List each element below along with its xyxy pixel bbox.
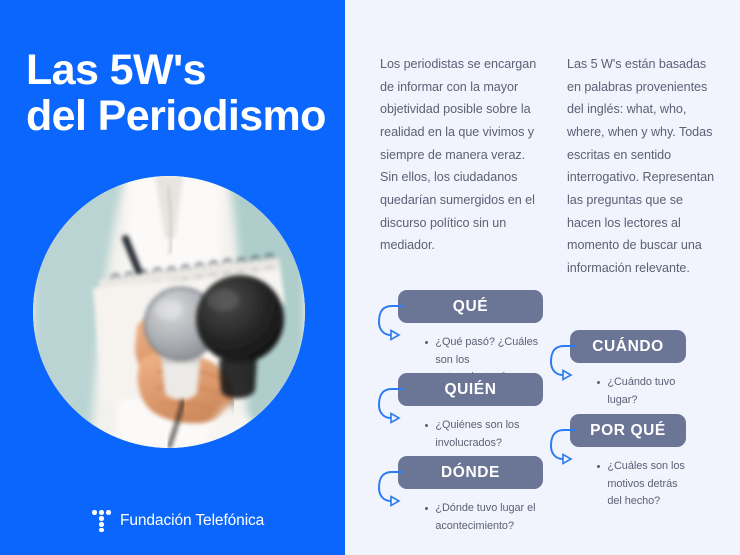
card-question-row-quien: ¿Quiénes son los involucrados? bbox=[398, 417, 543, 452]
left-blue-panel: Las 5W's del Periodismo bbox=[0, 0, 345, 555]
card-label-por-que[interactable]: POR QUÉ bbox=[570, 414, 686, 447]
card-label-que[interactable]: QUÉ bbox=[398, 290, 543, 323]
card-question-quien: ¿Quiénes son los involucrados? bbox=[435, 417, 543, 452]
card-question-row-por-que: ¿Cuáles son los motivos detrás del hecho… bbox=[570, 458, 686, 511]
logo-text: Fundación Telefónica bbox=[120, 512, 264, 530]
card-label-quien[interactable]: QUIÉN bbox=[398, 373, 543, 406]
card-question-por-que: ¿Cuáles son los motivos detrás del hecho… bbox=[607, 458, 686, 511]
fundacion-telefonica-logo: Fundación Telefónica bbox=[92, 510, 264, 532]
right-content-area: Los periodistas se encargan de informar … bbox=[345, 0, 740, 555]
infographic-page: Las 5W's del Periodismo bbox=[0, 0, 740, 555]
question-card-quien: QUIÉN ¿Quiénes son los involucrados? bbox=[398, 373, 543, 452]
card-question-row-cuando: ¿Cuándo tuvo lugar? bbox=[570, 374, 686, 409]
intro-paragraph-1: Los periodistas se encargan de informar … bbox=[380, 53, 546, 257]
card-question-row-donde: ¿Dónde tuvo lugar el acontecimiento? bbox=[398, 500, 543, 535]
question-card-por-que: POR QUÉ ¿Cuáles son los motivos detrás d… bbox=[570, 414, 686, 511]
title-line-1: Las 5W's bbox=[26, 46, 206, 94]
bullet-dot-icon bbox=[425, 507, 428, 510]
page-title: Las 5W's del Periodismo bbox=[26, 48, 326, 139]
journalist-photo bbox=[33, 176, 305, 448]
bullet-dot-icon bbox=[425, 424, 428, 427]
question-card-donde: DÓNDE ¿Dónde tuvo lugar el acontecimient… bbox=[398, 456, 543, 535]
card-question-cuando: ¿Cuándo tuvo lugar? bbox=[607, 374, 686, 409]
card-question-donde: ¿Dónde tuvo lugar el acontecimiento? bbox=[435, 500, 543, 535]
card-label-cuando[interactable]: CUÁNDO bbox=[570, 330, 686, 363]
bullet-dot-icon bbox=[597, 465, 600, 468]
title-line-2: del Periodismo bbox=[26, 94, 326, 140]
bullet-dot-icon bbox=[425, 341, 428, 344]
intro-paragraph-2: Las 5 W's están basadas en palabras prov… bbox=[567, 53, 715, 280]
bullet-dot-icon bbox=[597, 381, 600, 384]
question-card-cuando: CUÁNDO ¿Cuándo tuvo lugar? bbox=[570, 330, 686, 409]
telefonica-dot-mark-icon bbox=[92, 510, 111, 532]
card-label-donde[interactable]: DÓNDE bbox=[398, 456, 543, 489]
